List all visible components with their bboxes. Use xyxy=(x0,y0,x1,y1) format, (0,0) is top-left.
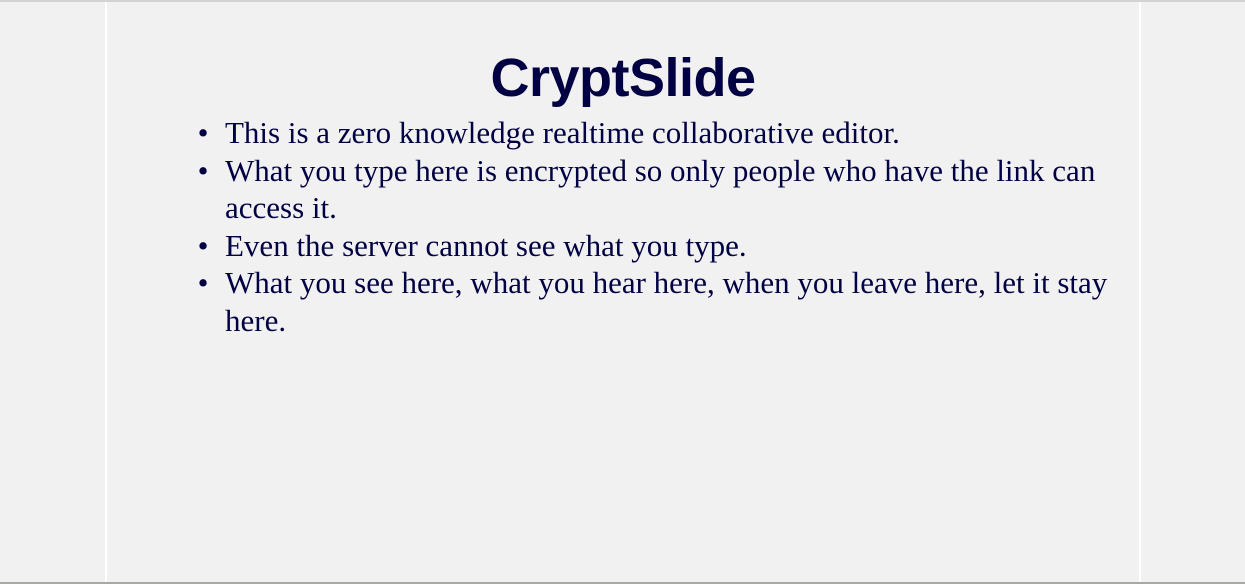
bullet-list: • This is a zero knowledge realtime coll… xyxy=(153,114,1113,340)
list-item-text: This is a zero knowledge realtime collab… xyxy=(225,114,1113,152)
list-item[interactable]: • What you see here, what you hear here,… xyxy=(153,264,1113,339)
list-item[interactable]: • Even the server cannot see what you ty… xyxy=(153,227,1113,265)
page-title: CryptSlide xyxy=(107,46,1139,110)
list-item-text: Even the server cannot see what you type… xyxy=(225,227,1113,265)
list-item[interactable]: • This is a zero knowledge realtime coll… xyxy=(153,114,1113,152)
bullet-icon: • xyxy=(196,264,210,302)
list-item[interactable]: • What you type here is encrypted so onl… xyxy=(153,152,1113,227)
bullet-icon: • xyxy=(196,152,210,190)
list-item-text: What you type here is encrypted so only … xyxy=(225,152,1113,227)
bullet-icon: • xyxy=(196,227,210,265)
slide-viewport: CryptSlide • This is a zero knowledge re… xyxy=(0,0,1245,584)
slide-canvas[interactable]: CryptSlide • This is a zero knowledge re… xyxy=(105,2,1141,582)
list-item-text: What you see here, what you hear here, w… xyxy=(225,264,1113,339)
bullet-icon: • xyxy=(196,114,210,152)
